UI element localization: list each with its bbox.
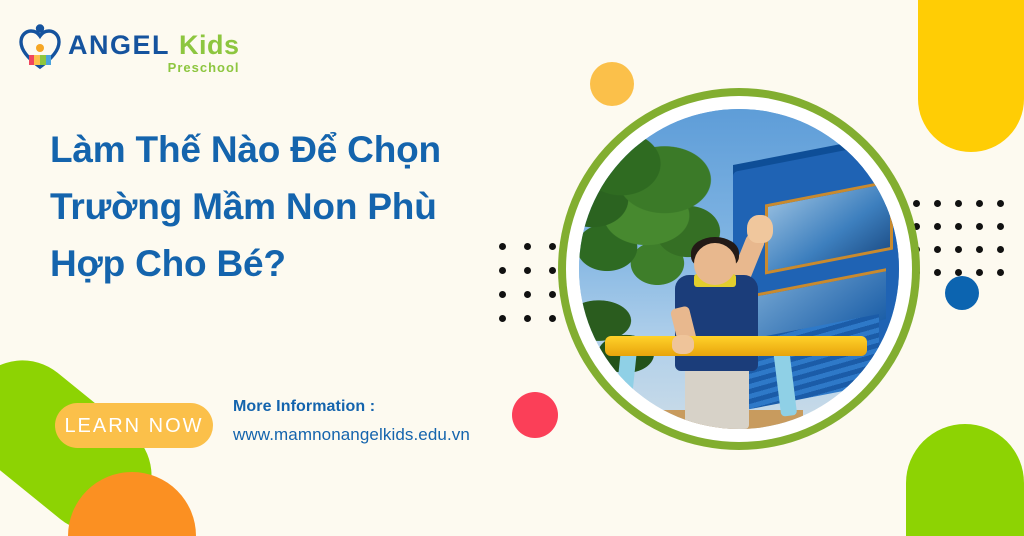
more-information-label: More Information : bbox=[233, 398, 470, 416]
logo-text-kids: Kids bbox=[179, 30, 240, 61]
photo-inner-white-ring bbox=[566, 96, 912, 442]
promo-banner: ANGEL Kids Preschool Làm Thế Nào Để Chọn… bbox=[0, 0, 1024, 536]
decor-yellow-rounded-shape bbox=[918, 0, 1024, 152]
photo-child-gripping-hand bbox=[672, 335, 694, 354]
decor-dot-grid-right bbox=[913, 200, 1018, 292]
brand-logo[interactable]: ANGEL Kids Preschool bbox=[18, 22, 240, 75]
logo-text-angel: ANGEL bbox=[68, 30, 170, 61]
website-url[interactable]: www.mamnonangelkids.edu.vn bbox=[233, 425, 470, 445]
decor-orange-circle bbox=[590, 62, 634, 106]
photo-child-face bbox=[694, 243, 736, 285]
photo-yellow-bar bbox=[605, 336, 867, 356]
learn-now-button[interactable]: LEARN NOW bbox=[55, 403, 213, 448]
decor-green-dome-shape bbox=[906, 424, 1024, 536]
logo-text-preschool: Preschool bbox=[68, 60, 240, 75]
decor-red-circle bbox=[512, 392, 558, 438]
photo-outer-green-ring bbox=[558, 88, 920, 450]
more-information-block: More Information : www.mamnonangelkids.e… bbox=[233, 398, 470, 445]
hero-photo bbox=[579, 109, 899, 429]
photo-child-waving-hand bbox=[747, 215, 773, 244]
heart-child-logo-icon bbox=[18, 24, 62, 70]
logo-wordmark: ANGEL Kids Preschool bbox=[68, 22, 240, 75]
headline-title: Làm Thế Nào Để Chọn Trường Mầm Non Phù H… bbox=[50, 122, 470, 293]
